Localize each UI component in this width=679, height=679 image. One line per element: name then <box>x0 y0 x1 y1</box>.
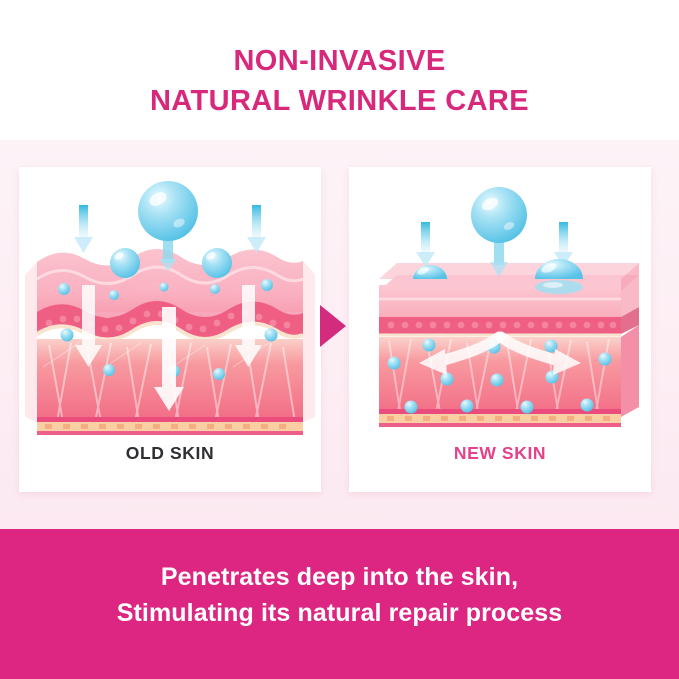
old-skin-illustration <box>19 167 321 437</box>
title-line-2: NATURAL WRINKLE CARE <box>0 82 679 122</box>
absorption-arrow-icon <box>74 205 93 253</box>
banner-text: Penetrates deep into the skin, Stimulati… <box>0 559 679 631</box>
panel-label-new-skin: NEW SKIN <box>349 443 651 464</box>
page-title: NON-INVASIVE NATURAL WRINKLE CARE <box>0 42 679 121</box>
infographic-page: NON-INVASIVE NATURAL WRINKLE CARE <box>0 0 679 679</box>
banner-line-2: Stimulating its natural repair process <box>0 595 679 631</box>
triangle-right-icon <box>320 305 346 347</box>
absorption-arrow-icon <box>247 205 266 253</box>
absorption-arrow-icon <box>416 222 435 267</box>
banner-line-1: Penetrates deep into the skin, <box>0 559 679 595</box>
title-line-1: NON-INVASIVE <box>0 42 679 82</box>
panel-old-skin: OLD SKIN <box>19 167 321 492</box>
panel-new-skin: NEW SKIN <box>349 167 651 492</box>
panel-label-old-skin: OLD SKIN <box>19 443 321 464</box>
bottom-banner: Penetrates deep into the skin, Stimulati… <box>0 529 679 679</box>
new-skin-illustration <box>349 167 651 437</box>
